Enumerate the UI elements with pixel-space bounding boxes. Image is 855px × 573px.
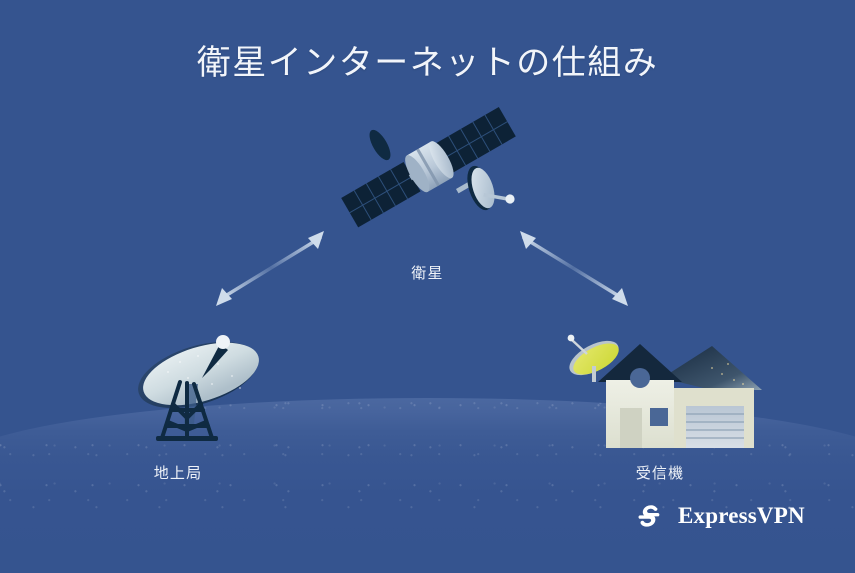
expressvpn-logo-icon xyxy=(632,499,666,533)
attic-window xyxy=(630,368,650,388)
front-door xyxy=(620,408,642,448)
brand-name: ExpressVPN xyxy=(678,503,805,529)
satellite-end-cap xyxy=(365,127,394,163)
satellite-label: 衛星 xyxy=(0,262,855,283)
brand-logo: ExpressVPN xyxy=(632,499,805,533)
antenna-feed-ball xyxy=(505,194,514,203)
house-with-dish-icon xyxy=(562,330,762,452)
dish-base xyxy=(156,436,218,441)
receiver-label: 受信機 xyxy=(600,462,720,483)
diagram-canvas: 衛星インターネットの仕組み xyxy=(0,0,855,573)
garage-door xyxy=(686,406,744,448)
front-window xyxy=(650,408,668,426)
page-title: 衛星インターネットの仕組み xyxy=(0,42,855,85)
satellite-icon xyxy=(338,105,528,245)
satellite-antenna xyxy=(456,163,515,214)
ground-station-label: 地上局 xyxy=(118,462,238,483)
parabolic-dish-icon xyxy=(128,326,274,450)
